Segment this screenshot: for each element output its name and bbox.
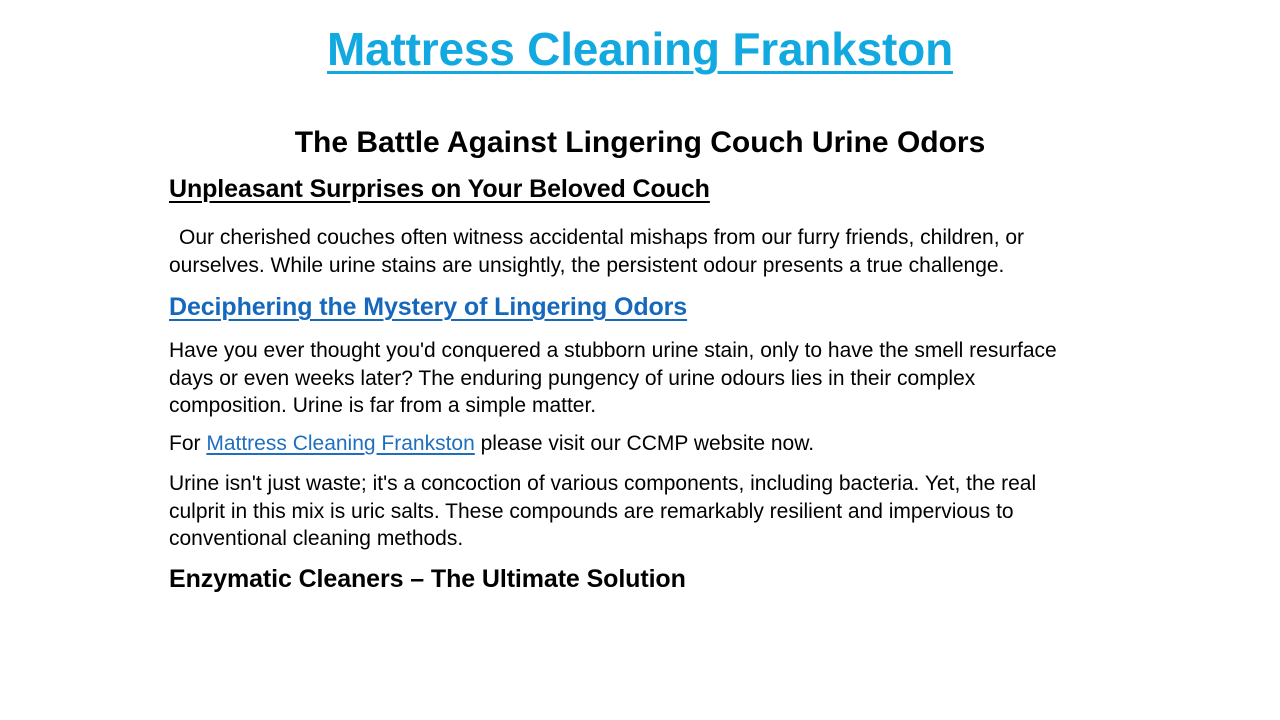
section-3: Enzymatic Cleaners – The Ultimate Soluti…: [169, 562, 1114, 596]
heading-enzymatic-cleaners: Enzymatic Cleaners – The Ultimate Soluti…: [169, 562, 1114, 596]
paragraph-block-3: Urine isn't just waste; it's a concoctio…: [169, 470, 1087, 553]
page-title-text: Mattress Cleaning Frankston: [327, 23, 953, 75]
page-title: Mattress Cleaning Frankston: [0, 18, 1280, 80]
paragraph-uric-salts: Urine isn't just waste; it's a concoctio…: [169, 470, 1087, 553]
section-1: Unpleasant Surprises on Your Beloved Cou…: [169, 172, 1114, 206]
slide-canvas: Mattress Cleaning Frankston The Battle A…: [0, 0, 1280, 720]
paragraph-lingering-odors: Have you ever thought you'd conquered a …: [169, 337, 1069, 420]
inline-link-mattress-cleaning-frankston[interactable]: Mattress Cleaning Frankston: [206, 432, 474, 455]
paragraph-block-2: Have you ever thought you'd conquered a …: [169, 337, 1069, 420]
section-2: Deciphering the Mystery of Lingering Odo…: [169, 290, 1114, 324]
paragraph-block-cta: For Mattress Cleaning Frankston please v…: [169, 430, 1114, 458]
paragraph-cherished-couches: Our cherished couches often witness acci…: [169, 224, 1111, 279]
cta-suffix: please visit our CCMP website now.: [475, 432, 814, 455]
cta-prefix: For: [169, 432, 206, 455]
heading-link-deciphering-mystery[interactable]: Deciphering the Mystery of Lingering Odo…: [169, 290, 1114, 324]
cta-line: For Mattress Cleaning Frankston please v…: [169, 430, 1114, 458]
page-subtitle: The Battle Against Lingering Couch Urine…: [0, 123, 1280, 163]
heading-unpleasant-surprises: Unpleasant Surprises on Your Beloved Cou…: [169, 172, 1114, 206]
paragraph-block-1: Our cherished couches often witness acci…: [169, 224, 1111, 279]
